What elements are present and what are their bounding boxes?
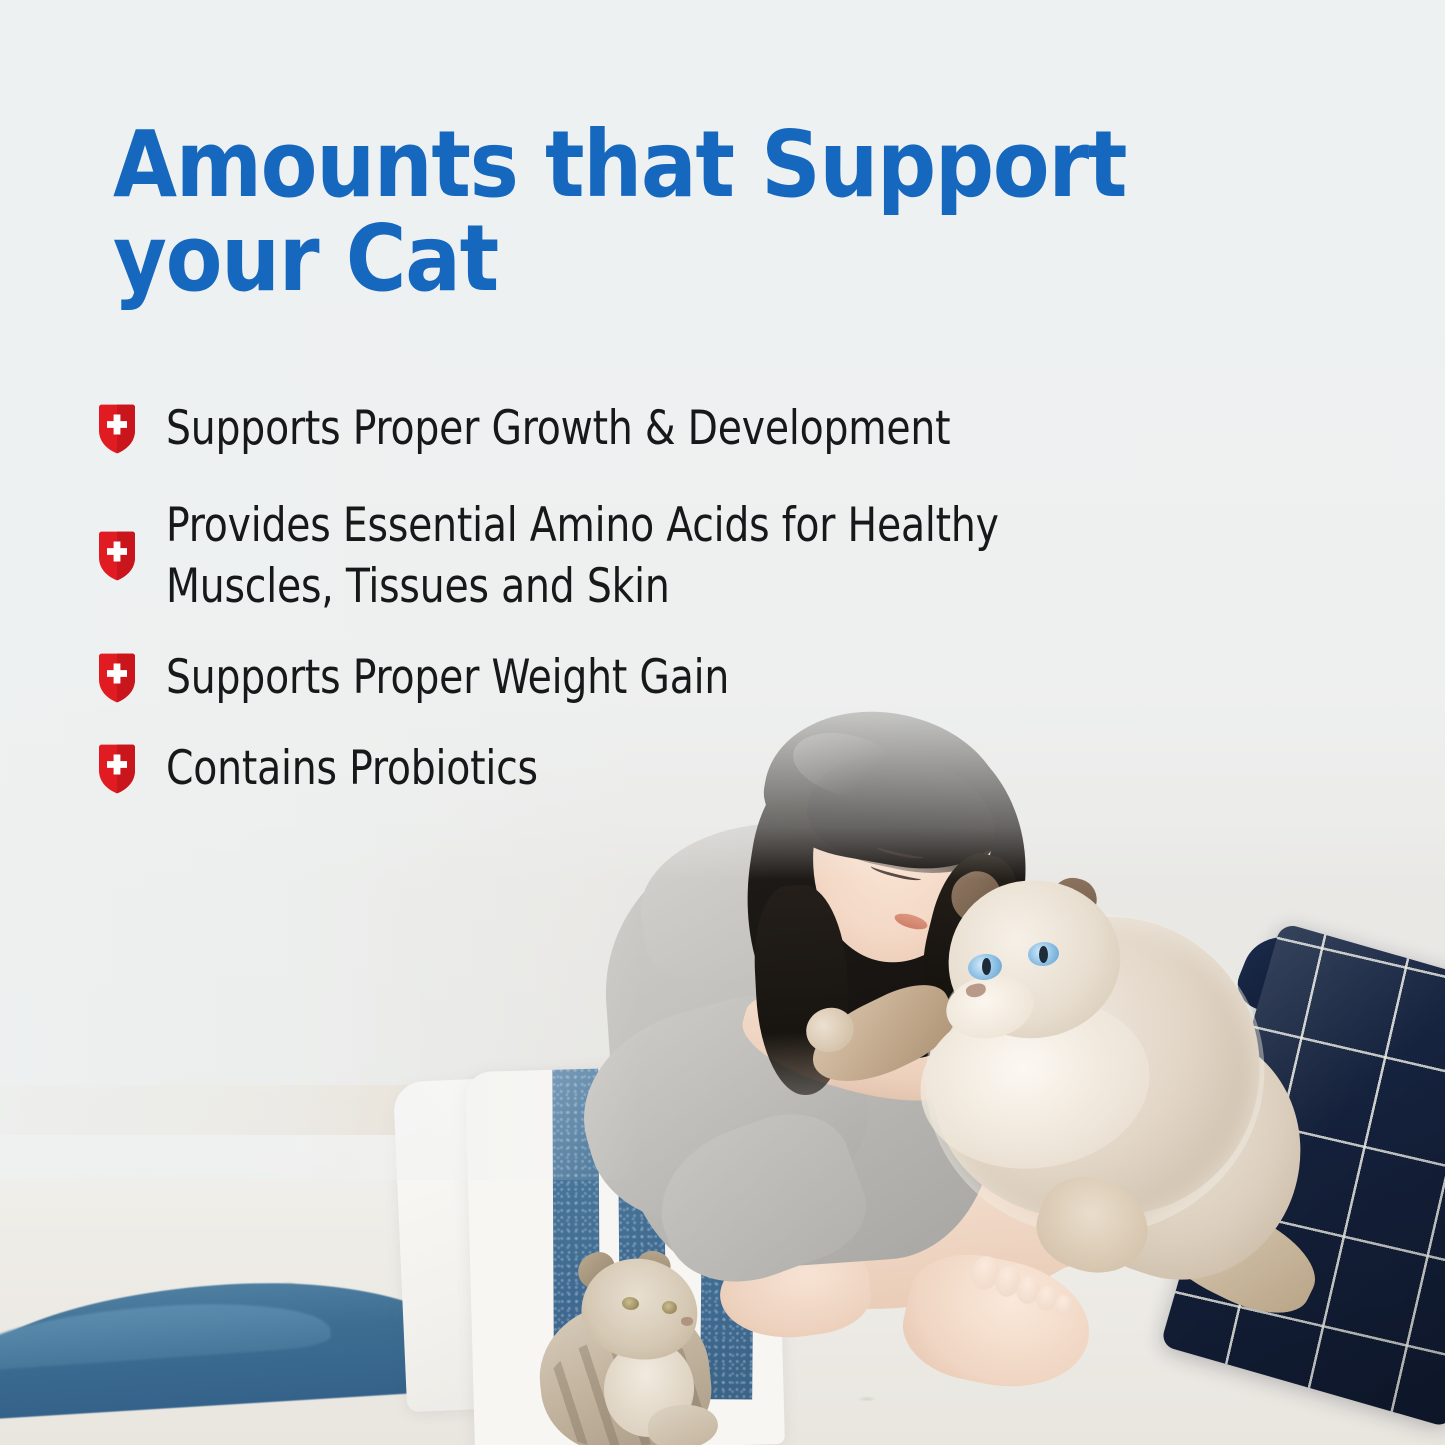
shield-plus-icon: [96, 531, 138, 581]
shield-plus-icon: [96, 653, 138, 703]
benefit-item-4: Contains Probiotics: [96, 738, 1296, 799]
headline-line-2: your Cat: [113, 212, 1175, 306]
shield-plus-icon: [96, 404, 138, 454]
benefit-item-3: Supports Proper Weight Gain: [96, 647, 1296, 708]
benefit-item-1: Supports Proper Growth & Development: [96, 398, 1296, 459]
benefit-label: Contains Probiotics: [166, 738, 538, 799]
product-benefits-infographic: Amounts that Support your Cat Supports P…: [0, 0, 1445, 1445]
benefit-item-2: Provides Essential Amino Acids for Healt…: [96, 495, 1296, 617]
shield-plus-icon: [96, 744, 138, 794]
benefit-label: Provides Essential Amino Acids for Healt…: [166, 495, 999, 617]
benefit-label: Supports Proper Growth & Development: [166, 398, 950, 459]
page-title: Amounts that Support your Cat: [113, 118, 1175, 306]
overlay-content: Amounts that Support your Cat Supports P…: [0, 0, 1445, 1445]
benefit-label: Supports Proper Weight Gain: [166, 647, 729, 708]
headline-line-1: Amounts that Support: [113, 118, 1175, 212]
benefits-list: Supports Proper Growth & Development Pro…: [96, 398, 1296, 835]
